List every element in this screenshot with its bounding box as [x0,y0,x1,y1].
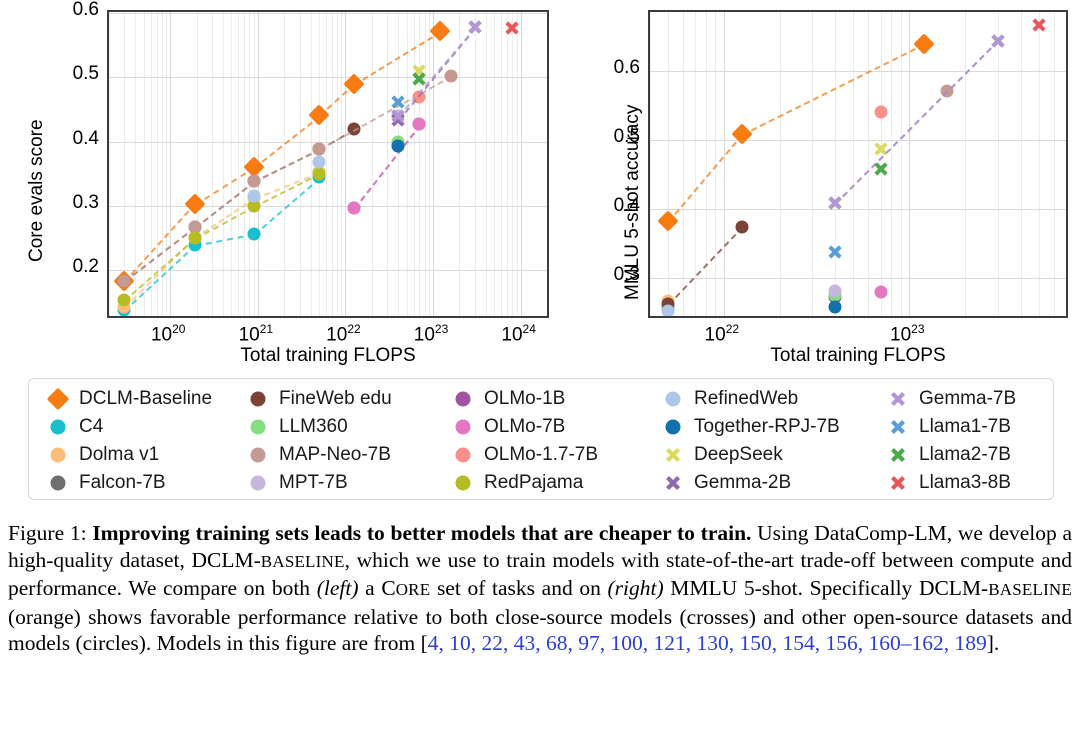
legend-item-label: Llama2-7B [919,444,1011,466]
gridline-minor-vertical [706,12,707,316]
legend-circle-icon [452,388,474,410]
data-point-together-rpj-7b[interactable] [829,301,842,314]
legend-item-gemma-7b[interactable]: Gemma-7B [887,388,1067,410]
legend-item-map-neo-7b[interactable]: MAP-Neo-7B [247,444,452,466]
legend-item-label: DCLM-Baseline [79,388,212,410]
gridline-minor-vertical [780,12,781,316]
gridline-minor-vertical [965,12,966,316]
data-point-llama1-7b[interactable] [389,92,408,111]
gridline-horizontal [109,270,547,271]
legend-circle-icon [452,472,474,494]
data-point-map-neo-7b[interactable] [247,175,260,188]
data-point-dclm-baseline[interactable] [916,36,931,51]
caption-body-3: a C [359,576,396,600]
gridline-minor-vertical [547,12,548,316]
data-point-dclm-baseline[interactable] [734,127,749,142]
x-tick-label: 1023 [396,322,466,346]
series-connector-line [835,41,999,205]
gridline-minor-vertical [812,12,813,316]
gridline-minor-vertical [1066,12,1067,316]
caption-italic-right: (right) [608,576,664,600]
legend-item-gemma-2b[interactable]: Gemma-2B [662,472,887,494]
legend-item-label: DeepSeek [694,444,783,466]
gridline-minor-vertical [1054,12,1055,316]
legend-item-dolma-v1[interactable]: Dolma v1 [47,444,247,466]
gridline-minor-vertical [868,12,869,316]
y-tick-label: 0.3 [49,192,99,214]
legend-circle-icon [247,472,269,494]
gridline-minor-vertical [683,12,684,316]
gridline-horizontal [109,206,547,207]
legend-circle-icon [47,444,69,466]
data-point-together-rpj-7b[interactable] [392,140,405,153]
caption-italic-left: (left) [317,576,359,600]
legend-cross-icon [887,444,909,466]
legend-item-label: FineWeb edu [279,388,392,410]
data-point-mpt-7b[interactable] [829,285,842,298]
data-point-llama3-8b[interactable] [503,19,522,38]
x-tick-label: 1022 [308,322,378,346]
legend-item-olmo-7b[interactable]: OLMo-7B [452,416,662,438]
data-point-olmo-7b[interactable] [874,285,887,298]
data-point-refinedweb[interactable] [313,156,326,169]
legend-cross-icon [887,388,909,410]
legend-item-label: Falcon-7B [79,472,166,494]
series-connector-line [195,234,255,248]
legend-item-label: OLMo-1B [484,388,565,410]
legend-circle-icon [662,416,684,438]
legend-item-llm360[interactable]: LLM360 [247,416,452,438]
data-point-olmo-1-7-7b[interactable] [874,106,887,119]
legend-item-redpajama[interactable]: RedPajama [452,472,662,494]
caption-smallcaps-baseline-1: BASELINE [261,552,345,571]
x-tick-label: 1020 [133,322,203,346]
legend-item-label: C4 [79,416,103,438]
legend-cross-icon [662,472,684,494]
left-y-axis-label: Core evals score [26,119,48,262]
legend-diamond-icon [47,388,69,410]
data-point-dclm-baseline[interactable] [312,108,327,123]
legend-item-label: Llama3-8B [919,472,1011,494]
gridline-minor-vertical [853,12,854,316]
data-point-gemma-7b[interactable] [988,32,1007,51]
legend-item-label: RefinedWeb [694,388,798,410]
gridline-minor-vertical [650,12,651,316]
y-tick-label: 0.6 [49,0,99,21]
legend-cross-icon [662,444,684,466]
data-point-dclm-baseline[interactable] [660,214,675,229]
gridline-minor-vertical [998,12,999,316]
caption-figure-number: Figure 1: [8,521,87,545]
legend-item-label: Gemma-2B [694,472,791,494]
data-point-refinedweb[interactable] [661,305,674,318]
data-point-olmo-7b[interactable] [413,118,426,131]
legend-circle-icon [452,444,474,466]
data-point-dclm-baseline[interactable] [246,159,261,174]
data-point-dclm-baseline[interactable] [432,24,447,39]
y-tick-label: 0.6 [590,57,640,79]
legend-circle-icon [662,388,684,410]
gridline-minor-vertical [1021,12,1022,316]
series-connector-line [742,44,925,136]
data-point-dclm-baseline[interactable] [346,76,361,91]
x-tick-label: 1021 [221,322,291,346]
caption-body-7: ]. [987,631,1000,655]
gridline-major-vertical [724,12,725,316]
data-point-dclm-baseline[interactable] [187,196,202,211]
data-point-gemma-7b[interactable] [465,18,484,37]
legend-circle-icon [247,388,269,410]
figure-page: Core evals score 0.20.30.40.50.6 1020102… [0,0,1080,752]
gridline-horizontal [109,13,547,14]
legend-item-together-rpj-7b[interactable]: Together-RPJ-7B [662,416,887,438]
legend-box: DCLM-BaselineFineWeb eduOLMo-1BRefinedWe… [28,378,1054,500]
legend-circle-icon [247,416,269,438]
right-plot-area [648,10,1068,318]
right-x-axis-label: Total training FLOPS [738,345,978,367]
legend-item-label: LLM360 [279,416,348,438]
legend-circle-icon [247,444,269,466]
data-point-c4[interactable] [247,227,260,240]
gridline-horizontal [650,71,1066,72]
y-tick-label: 0.2 [49,256,99,278]
legend-cross-icon [887,472,909,494]
legend-cross-icon [887,416,909,438]
legend-item-llama3-8b[interactable]: Llama3-8B [887,472,1067,494]
legend-item-olmo-1b[interactable]: OLMo-1B [452,388,662,410]
data-point-fineweb-edu[interactable] [735,220,748,233]
gridline-minor-vertical [668,12,669,316]
y-tick-label: 0.4 [590,195,640,217]
x-tick-label: 1024 [484,322,554,346]
legend-item-label: OLMo-7B [484,416,565,438]
caption-bold-lead: Improving training sets leads to better … [92,521,751,545]
data-point-deepseek[interactable] [871,139,890,158]
legend-item-mpt-7b[interactable]: MPT-7B [247,472,452,494]
y-tick-label: 0.4 [49,128,99,150]
legend-item-deepseek[interactable]: DeepSeek [662,444,887,466]
data-point-llama2-7b[interactable] [871,159,890,178]
data-point-llama3-8b[interactable] [1029,16,1048,35]
legend-item-label: Gemma-7B [919,388,1016,410]
y-tick-label: 0.3 [590,264,640,286]
y-tick-label: 0.5 [49,63,99,85]
right-chart-panel: MMLU 5-shot accuracy 0.30.40.50.6 102210… [600,0,1080,370]
legend-item-label: MPT-7B [279,472,348,494]
legend-item-label: RedPajama [484,472,583,494]
gridline-minor-vertical [901,12,902,316]
data-point-llama1-7b[interactable] [826,242,845,261]
legend-circle-icon [47,472,69,494]
left-plot-area [107,10,549,318]
legend-circle-icon [452,416,474,438]
x-tick-label: 1023 [872,322,942,346]
legend-item-label: Llama1-7B [919,416,1011,438]
gridline-horizontal [109,77,547,78]
figure-caption: Figure 1: Improving training sets leads … [8,520,1072,657]
series-connector-line [319,76,452,151]
legend-item-llama1-7b[interactable]: Llama1-7B [887,416,1067,438]
data-point-map-neo-7b[interactable] [313,143,326,156]
gridline-minor-vertical [891,12,892,316]
caption-body-5: MMLU 5-shot. Specifically DCLM- [664,576,989,600]
data-point-refinedweb[interactable] [247,190,260,203]
y-tick-label: 0.5 [590,126,640,148]
legend-item-fineweb-edu[interactable]: FineWeb edu [247,388,452,410]
data-point-redpajama[interactable] [188,232,201,245]
legend-grid: DCLM-BaselineFineWeb eduOLMo-1BRefinedWe… [33,385,1049,497]
legend-item-llama2-7b[interactable]: Llama2-7B [887,444,1067,466]
caption-references[interactable]: 4, 10, 22, 43, 68, 97, 100, 121, 130, 15… [428,631,987,655]
data-point-olmo-7b[interactable] [347,201,360,214]
legend-item-olmo-1-7-7b[interactable]: OLMo-1.7-7B [452,444,662,466]
gridline-horizontal [650,278,1066,279]
data-point-redpajama[interactable] [118,293,131,306]
data-point-llama2-7b[interactable] [410,70,429,89]
legend-item-label: Together-RPJ-7B [694,416,840,438]
data-point-map-neo-7b[interactable] [118,275,131,288]
data-point-map-neo-7b[interactable] [444,70,457,83]
legend-item-label: MAP-Neo-7B [279,444,391,466]
gridline-minor-vertical [1039,12,1040,316]
left-chart-panel: Core evals score 0.20.30.40.50.6 1020102… [0,0,600,370]
gridline-horizontal [650,209,1066,210]
legend-item-c4[interactable]: C4 [47,416,247,438]
legend-item-refinedweb[interactable]: RefinedWeb [662,388,887,410]
legend-item-falcon-7b[interactable]: Falcon-7B [47,472,247,494]
gridline-minor-vertical [695,12,696,316]
data-point-redpajama[interactable] [313,167,326,180]
gridline-horizontal [650,140,1066,141]
gridline-major-vertical [909,12,910,316]
legend-circle-icon [47,416,69,438]
data-point-gemma-7b[interactable] [826,194,845,213]
caption-body-4: set of tasks and on [430,576,607,600]
caption-smallcaps-baseline-2: BASELINE [988,580,1072,599]
left-x-axis-label: Total training FLOPS [208,345,448,367]
legend-item-label: Dolma v1 [79,444,159,466]
caption-smallcaps-core: ORE [396,580,431,599]
legend-item-dclm-baseline[interactable]: DCLM-Baseline [47,388,247,410]
x-tick-label: 1022 [687,322,757,346]
legend-item-label: OLMo-1.7-7B [484,444,598,466]
gridline-minor-vertical [835,12,836,316]
